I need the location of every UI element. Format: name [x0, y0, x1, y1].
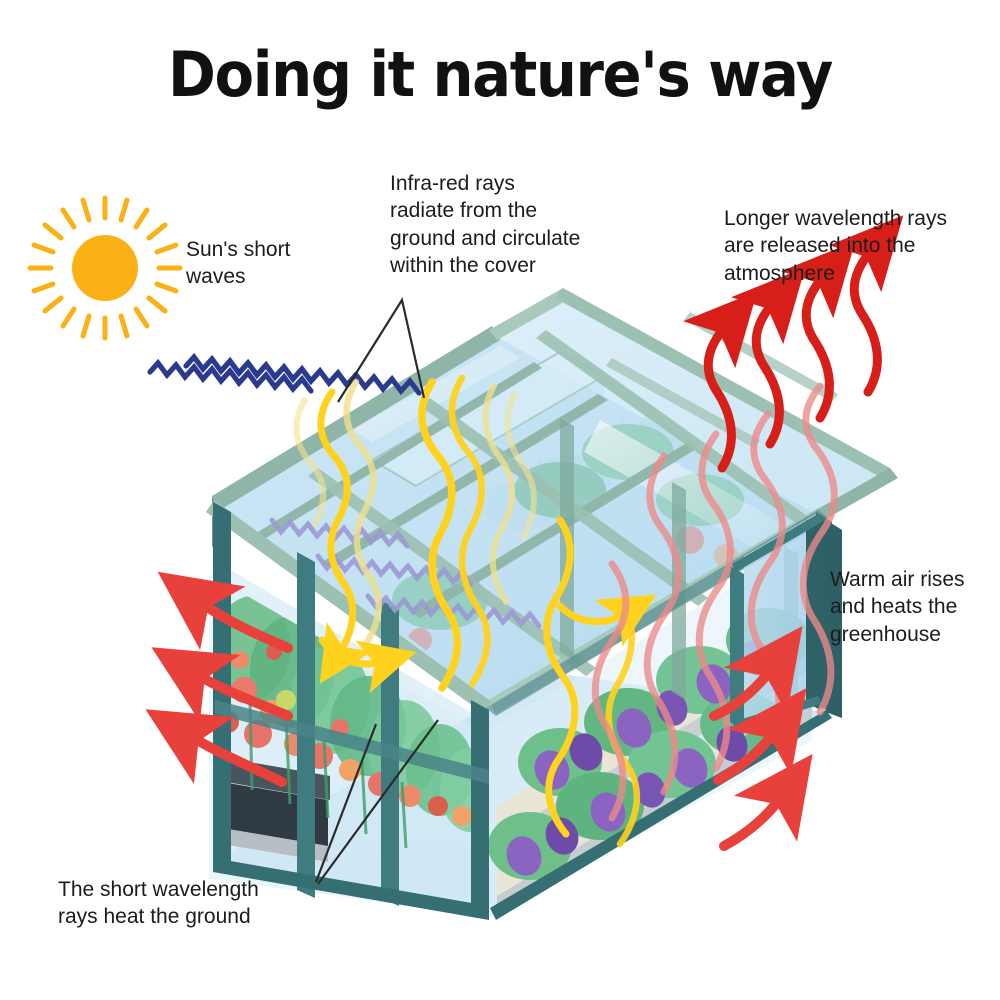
- sun-icon: [30, 198, 180, 338]
- greenhouse-svg: [0, 0, 1000, 1000]
- caption-longer-wavelength: Longer wavelength rays are released into…: [724, 205, 974, 287]
- caption-infrared-rays: Infra-red rays radiate from the ground a…: [390, 170, 620, 279]
- greenhouse-illustration: [0, 0, 1000, 1000]
- caption-short-wavelength-ground: The short wavelength rays heat the groun…: [58, 876, 328, 931]
- infographic-canvas: Doing it nature's way: [0, 0, 1000, 1000]
- incoming-shortwave-rays: [150, 357, 419, 393]
- caption-warm-air-rises: Warm air rises and heats the greenhouse: [830, 566, 1000, 648]
- caption-sun-short-waves: Sun's short waves: [186, 236, 376, 291]
